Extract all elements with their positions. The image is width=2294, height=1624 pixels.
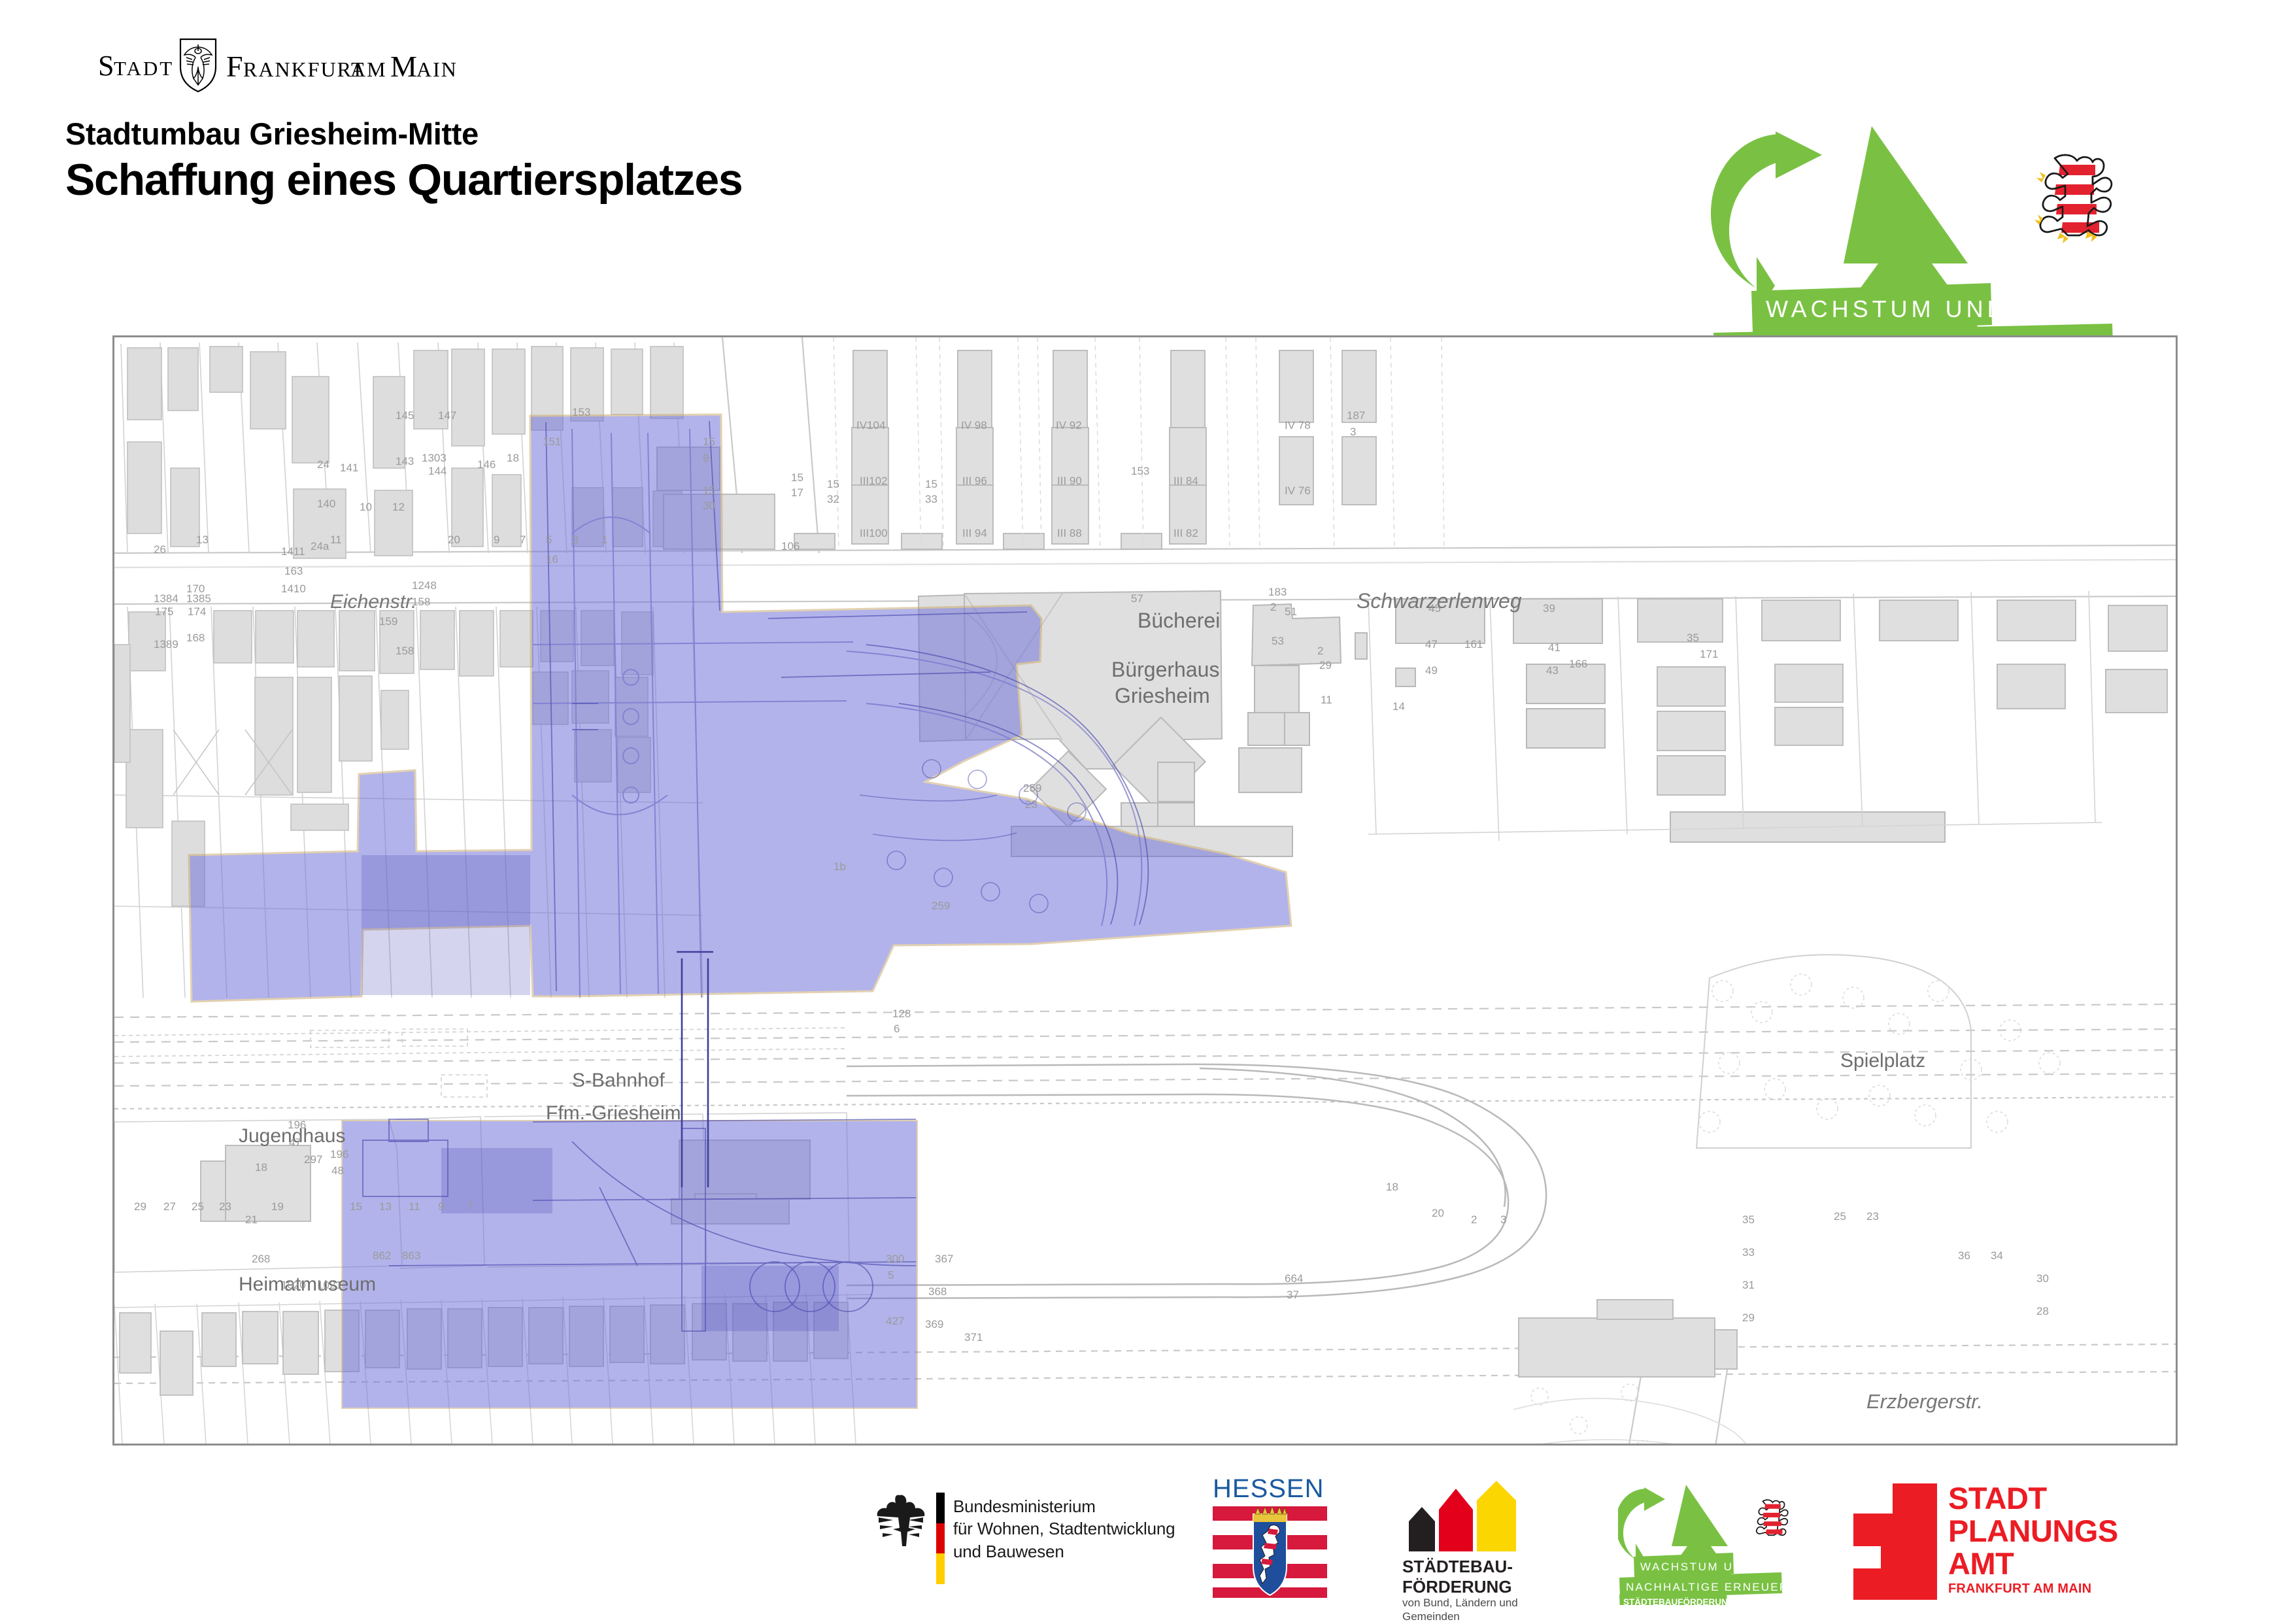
spa-line-1: STADT — [1948, 1482, 2118, 1515]
svg-text:F: F — [226, 50, 243, 83]
staedtebaufoerderung-logo: STÄDTEBAU- FÖRDERUNG von Bund, Ländern u… — [1402, 1481, 1572, 1612]
spa-line-3: AMT — [1948, 1548, 2118, 1580]
bmwsb-logo: Bundesministerium für Wohnen, Stadtentwi… — [869, 1481, 1177, 1595]
hessen-coat-of-arms-icon — [1213, 1506, 1327, 1598]
svg-text:NACHHALTIGE ERNEUERUNG: NACHHALTIGE ERNEUERUNG — [1626, 1581, 1808, 1593]
sbf-sub-2: Gemeinden — [1402, 1610, 1518, 1623]
stadt-frankfurt-logo: S TADT F RANKFURT AM M AIN — [98, 36, 516, 92]
stadtplanungsamt-mark-icon — [1853, 1483, 1937, 1600]
svg-text:M: M — [390, 50, 417, 83]
page-title: Schaffung eines Quartiersplatzes — [65, 156, 742, 204]
svg-text:S: S — [98, 50, 114, 82]
title-block: Stadtumbau Griesheim-Mitte Schaffung ein… — [65, 118, 742, 205]
hessen-wordmark: HESSEN — [1213, 1474, 1327, 1504]
three-houses-icon — [1402, 1481, 1540, 1554]
svg-text:RANKFURT: RANKFURT — [243, 58, 365, 81]
svg-text:AIN: AIN — [416, 58, 458, 81]
bmwsb-line-3: und Bauwesen — [953, 1540, 1175, 1563]
footer-logos: Bundesministerium für Wohnen, Stadtentwi… — [0, 1474, 2294, 1621]
svg-text:STÄDTEBAUFÖRDERUNG HESSEN: STÄDTEBAUFÖRDERUNG HESSEN — [1623, 1597, 1774, 1605]
project-subtitle: Stadtumbau Griesheim-Mitte — [65, 118, 742, 150]
svg-text:WACHSTUM UND: WACHSTUM UND — [1640, 1561, 1753, 1573]
svg-text:TADT: TADT — [114, 57, 174, 80]
wachstum-logo-small: WACHSTUM UND NACHHALTIGE ERNEUERUNG STÄD… — [1618, 1481, 1808, 1605]
hessen-lion-icon-small — [1757, 1500, 1788, 1535]
spa-line-2: PLANUNGS — [1948, 1515, 2118, 1548]
spa-subtitle: FRANKFURT AM MAIN — [1948, 1582, 2091, 1597]
hessen-lion-icon — [2034, 155, 2112, 243]
cadastral-map[interactable]: Eichenstr.SchwarzerlenwegErzbergerstr.Am… — [112, 335, 2178, 1446]
german-flag-bar — [936, 1493, 945, 1584]
sbf-line-1: STÄDTEBAU- — [1402, 1557, 1513, 1577]
recycle-arrow-icon — [1711, 131, 1822, 314]
hessen-logo: HESSEN — [1213, 1474, 1327, 1599]
sbf-sub-1: von Bund, Ländern und — [1402, 1596, 1518, 1610]
sbf-line-2: FÖRDERUNG — [1402, 1577, 1513, 1597]
stadtplanungsamt-logo: STADT PLANUNGS AMT FRANKFURT AM MAIN — [1853, 1482, 2141, 1603]
bmwsb-line-1: Bundesministerium — [953, 1495, 1175, 1517]
bundesadler-icon — [869, 1491, 932, 1563]
banner-wachstum: WACHSTUM UND — [1751, 283, 2008, 333]
svg-text:AM: AM — [350, 58, 387, 81]
banner-line-1: WACHSTUM UND — [1766, 296, 2008, 322]
bmwsb-line-2: für Wohnen, Stadtentwicklung — [953, 1517, 1175, 1540]
